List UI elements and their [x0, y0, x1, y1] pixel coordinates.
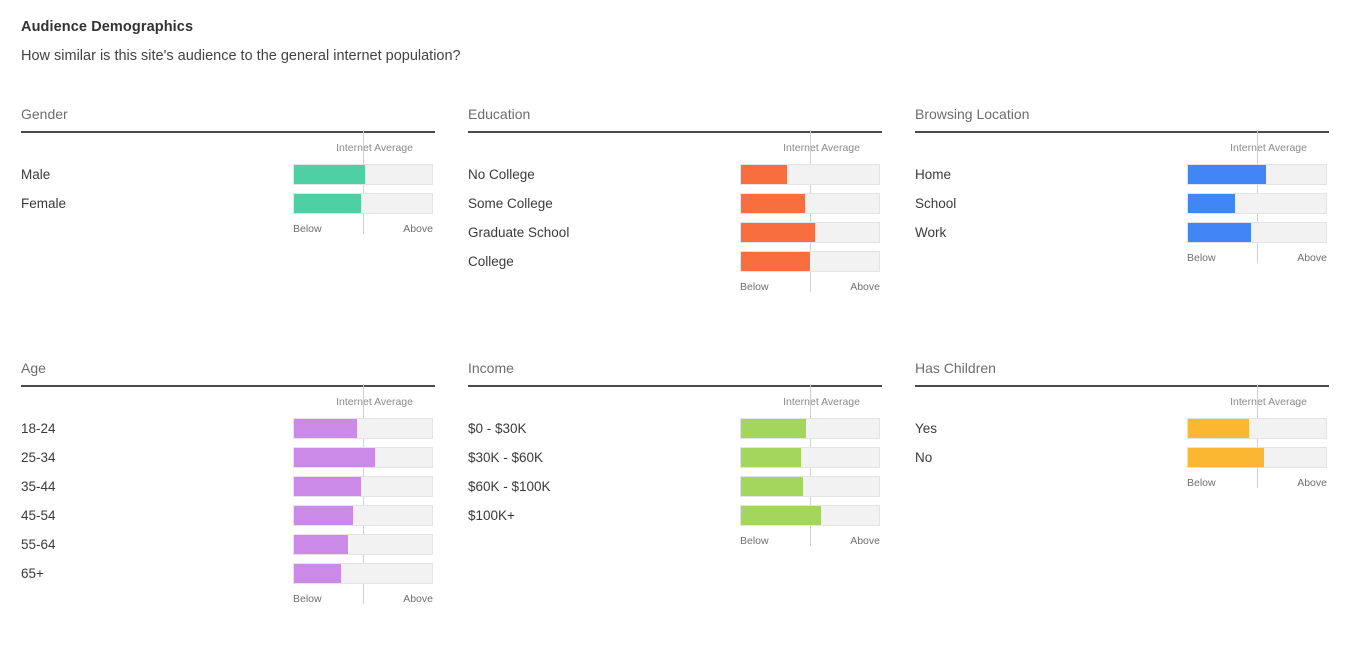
bar-track — [1187, 447, 1327, 468]
bar-track — [1187, 418, 1327, 439]
bar-rows: 18-2425-3435-4445-5455-6465+ — [21, 418, 435, 592]
scale-captions: BelowAbove — [468, 535, 882, 551]
scale-captions: BelowAbove — [915, 477, 1329, 493]
bar-row[interactable]: $60K - $100K — [468, 476, 882, 505]
bar-fill — [741, 194, 805, 213]
bar-row[interactable]: $100K+ — [468, 505, 882, 534]
bar-track — [293, 563, 433, 584]
bar-track — [293, 447, 433, 468]
bar-label: $60K - $100K — [468, 478, 551, 496]
scale-captions: BelowAbove — [468, 281, 882, 297]
bar-label: School — [915, 195, 956, 213]
bar-fill — [741, 165, 787, 184]
internet-average-caption: Internet Average — [468, 387, 882, 408]
bar-track — [1187, 193, 1327, 214]
bar-label: Male — [21, 166, 50, 184]
bar-label: College — [468, 253, 514, 271]
bar-row[interactable]: No — [915, 447, 1329, 476]
internet-average-caption: Internet Average — [468, 133, 882, 154]
bar-track — [740, 222, 880, 243]
scale-captions: BelowAbove — [21, 223, 435, 239]
bar-rows: HomeSchoolWork — [915, 164, 1329, 251]
bar-fill — [294, 165, 365, 184]
bar-row[interactable]: No College — [468, 164, 882, 193]
bar-fill — [1188, 448, 1264, 467]
page-subtitle: How similar is this site's audience to t… — [21, 48, 461, 64]
bar-fill — [1188, 419, 1249, 438]
bar-rows: YesNo — [915, 418, 1329, 476]
bar-fill — [741, 448, 801, 467]
scale-label-above: Above — [293, 223, 433, 236]
bar-fill — [294, 477, 361, 496]
internet-average-caption: Internet Average — [915, 133, 1329, 154]
bar-track — [293, 193, 433, 214]
bar-row[interactable]: Some College — [468, 193, 882, 222]
bar-fill — [294, 448, 375, 467]
scale-label-above: Above — [293, 593, 433, 606]
bar-row[interactable]: 65+ — [21, 563, 435, 592]
bar-label: Graduate School — [468, 224, 569, 242]
bar-rows: No CollegeSome CollegeGraduate SchoolCol… — [468, 164, 882, 280]
bar-label: $30K - $60K — [468, 449, 543, 467]
bar-fill — [294, 419, 357, 438]
bar-rows: MaleFemale — [21, 164, 435, 222]
bar-row[interactable]: Male — [21, 164, 435, 193]
bar-fill — [294, 506, 353, 525]
bar-row[interactable]: 18-24 — [21, 418, 435, 447]
page-title: Audience Demographics — [21, 19, 193, 35]
bar-row[interactable]: $0 - $30K — [468, 418, 882, 447]
panel-title: Gender — [21, 106, 435, 122]
bar-label: No — [915, 449, 932, 467]
bar-fill — [1188, 165, 1266, 184]
bar-fill — [1188, 194, 1235, 213]
bar-label: 25-34 — [21, 449, 56, 467]
bar-track — [740, 251, 880, 272]
bar-row[interactable]: 25-34 — [21, 447, 435, 476]
bar-track — [293, 476, 433, 497]
internet-average-caption: Internet Average — [21, 387, 435, 408]
scale-label-above: Above — [740, 535, 880, 548]
bar-label: No College — [468, 166, 535, 184]
bar-fill — [294, 564, 341, 583]
panel-title: Has Children — [915, 360, 1329, 376]
bar-label: 65+ — [21, 565, 44, 583]
scale-captions: BelowAbove — [21, 593, 435, 609]
bar-track — [293, 418, 433, 439]
bar-fill — [741, 419, 806, 438]
panel-browsing-location: Browsing LocationInternet AverageHomeSch… — [915, 106, 1329, 268]
bar-track — [293, 164, 433, 185]
internet-average-caption: Internet Average — [915, 387, 1329, 408]
bar-fill — [741, 506, 821, 525]
bar-label: 18-24 — [21, 420, 56, 438]
panel-title: Age — [21, 360, 435, 376]
bar-track — [740, 193, 880, 214]
bar-label: $100K+ — [468, 507, 515, 525]
bar-track — [740, 418, 880, 439]
panel-title: Education — [468, 106, 882, 122]
bar-row[interactable]: 55-64 — [21, 534, 435, 563]
bar-track — [1187, 164, 1327, 185]
bar-label: Work — [915, 224, 946, 242]
bar-fill — [294, 194, 361, 213]
bar-track — [740, 447, 880, 468]
bar-label: 55-64 — [21, 536, 56, 554]
bar-fill — [1188, 223, 1251, 242]
bar-rows: $0 - $30K$30K - $60K$60K - $100K$100K+ — [468, 418, 882, 534]
bar-label: Female — [21, 195, 66, 213]
bar-row[interactable]: 45-54 — [21, 505, 435, 534]
bar-track — [740, 476, 880, 497]
scale-label-above: Above — [1187, 477, 1327, 490]
scale-label-above: Above — [1187, 252, 1327, 265]
bar-fill — [741, 223, 815, 242]
bar-row[interactable]: Female — [21, 193, 435, 222]
bar-row[interactable]: School — [915, 193, 1329, 222]
panel-title: Income — [468, 360, 882, 376]
bar-track — [740, 505, 880, 526]
bar-track — [1187, 222, 1327, 243]
bar-row[interactable]: Yes — [915, 418, 1329, 447]
bar-row[interactable]: College — [468, 251, 882, 280]
audience-demographics-page: Audience Demographics How similar is thi… — [0, 0, 1350, 650]
panel-gender: GenderInternet AverageMaleFemaleBelowAbo… — [21, 106, 435, 239]
scale-label-above: Above — [740, 281, 880, 294]
bar-row[interactable]: Work — [915, 222, 1329, 251]
bar-label: 45-54 — [21, 507, 56, 525]
bar-label: Yes — [915, 420, 937, 438]
bar-fill — [741, 252, 810, 271]
internet-average-caption: Internet Average — [21, 133, 435, 154]
bar-label: 35-44 — [21, 478, 56, 496]
bar-row[interactable]: Graduate School — [468, 222, 882, 251]
bar-track — [740, 164, 880, 185]
panel-title: Browsing Location — [915, 106, 1329, 122]
bar-track — [293, 534, 433, 555]
bar-label: Home — [915, 166, 951, 184]
bar-row[interactable]: $30K - $60K — [468, 447, 882, 476]
bar-track — [293, 505, 433, 526]
bar-fill — [741, 477, 803, 496]
panel-age: AgeInternet Average18-2425-3435-4445-545… — [21, 360, 435, 609]
panel-has-children: Has ChildrenInternet AverageYesNoBelowAb… — [915, 360, 1329, 493]
bar-fill — [294, 535, 348, 554]
panel-education: EducationInternet AverageNo CollegeSome … — [468, 106, 882, 297]
bar-label: $0 - $30K — [468, 420, 527, 438]
bar-row[interactable]: Home — [915, 164, 1329, 193]
panel-income: IncomeInternet Average$0 - $30K$30K - $6… — [468, 360, 882, 551]
scale-captions: BelowAbove — [915, 252, 1329, 268]
bar-label: Some College — [468, 195, 553, 213]
bar-row[interactable]: 35-44 — [21, 476, 435, 505]
